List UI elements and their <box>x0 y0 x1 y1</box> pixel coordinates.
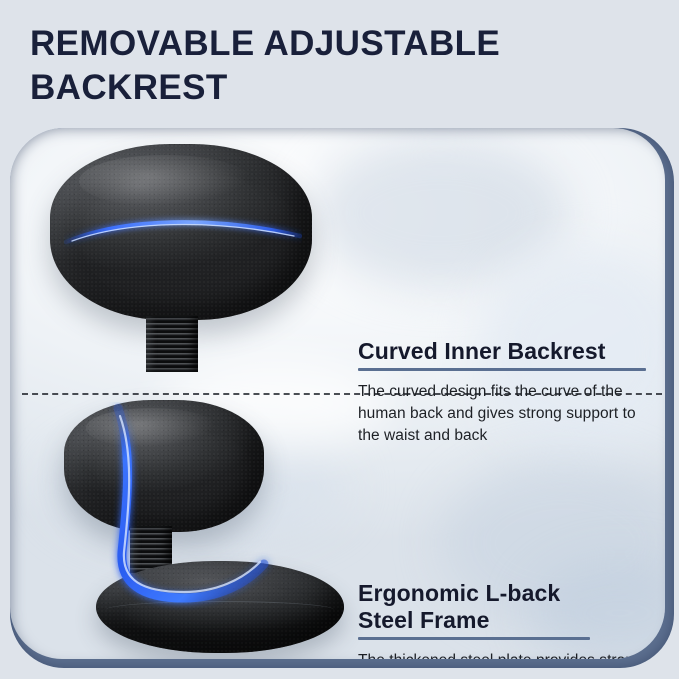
product-photo-backrest <box>36 136 326 386</box>
page-title-line-1: REMOVABLE ADJUSTABLE <box>30 22 630 66</box>
feature-description: The thickened steel plate provides stron… <box>358 650 658 659</box>
heading-underline <box>358 637 590 640</box>
heading-underline <box>358 368 646 371</box>
feature-description: The curved design fits the curve of the … <box>358 381 658 447</box>
feature-block-curved-inner-backrest: Curved Inner Backrest The curved design … <box>358 338 658 447</box>
page-title: REMOVABLE ADJUSTABLE BACKREST <box>30 22 630 110</box>
feature-heading: Curved Inner Backrest <box>358 338 658 365</box>
feature-block-ergonomic-l-back-steel-frame: Ergonomic L-back Steel Frame The thicken… <box>358 580 658 659</box>
backrest-cushion <box>64 400 264 532</box>
threaded-steel-post <box>146 316 198 372</box>
feature-heading-line-2: Steel Frame <box>358 607 658 634</box>
product-photo-full-chair <box>38 398 358 656</box>
page-title-line-2: BACKREST <box>30 66 630 110</box>
backrest-cushion <box>50 144 312 320</box>
photo-panel-frame: Curved Inner Backrest The curved design … <box>10 128 674 668</box>
photo-panel: Curved Inner Backrest The curved design … <box>10 128 665 659</box>
infographic-page: REMOVABLE ADJUSTABLE BACKREST <box>0 0 679 679</box>
seat-cushion <box>96 561 344 653</box>
background-blur-shape <box>310 138 570 288</box>
feature-heading-line-1: Ergonomic L-back <box>358 580 658 607</box>
